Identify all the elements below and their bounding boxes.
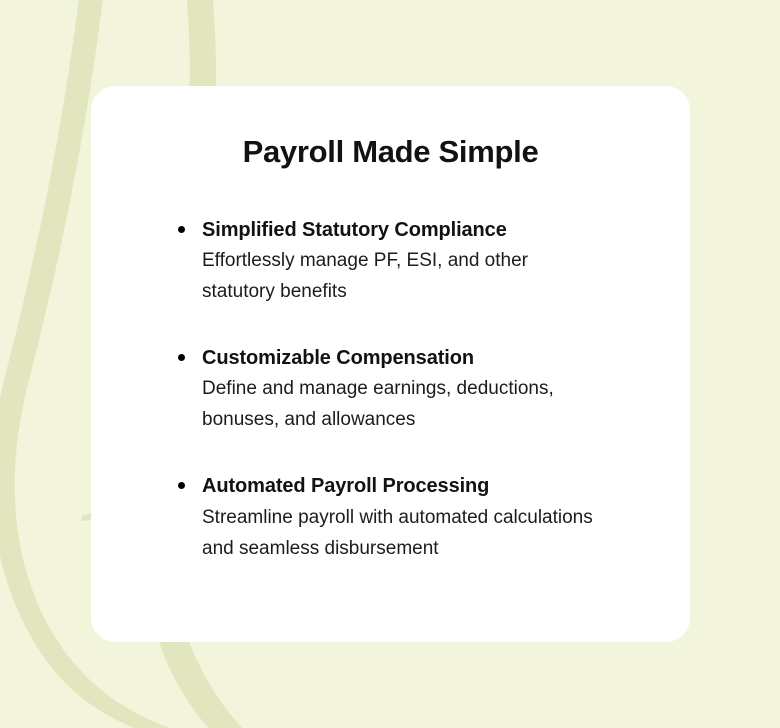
feature-heading: Automated Payroll Processing <box>202 473 650 499</box>
feature-list: Simplified Statutory Compliance Effortle… <box>91 170 690 565</box>
slide-canvas: Payroll Made Simple Simplified Statutory… <box>0 0 780 728</box>
feature-heading: Customizable Compensation <box>202 345 650 371</box>
bullet-icon <box>178 354 185 361</box>
feature-description: Streamline payroll with automated calcul… <box>202 503 606 565</box>
bullet-icon <box>178 482 185 489</box>
feature-description: Effortlessly manage PF, ESI, and other s… <box>202 246 606 308</box>
list-item: Simplified Statutory Compliance Effortle… <box>178 217 650 308</box>
list-item: Customizable Compensation Define and man… <box>178 345 650 436</box>
feature-heading: Simplified Statutory Compliance <box>202 217 650 243</box>
page-title: Payroll Made Simple <box>91 86 690 170</box>
list-item: Automated Payroll Processing Streamline … <box>178 473 650 564</box>
feature-description: Define and manage earnings, deductions, … <box>202 374 606 436</box>
bullet-icon <box>178 226 185 233</box>
payroll-feature-card: Payroll Made Simple Simplified Statutory… <box>91 86 690 642</box>
